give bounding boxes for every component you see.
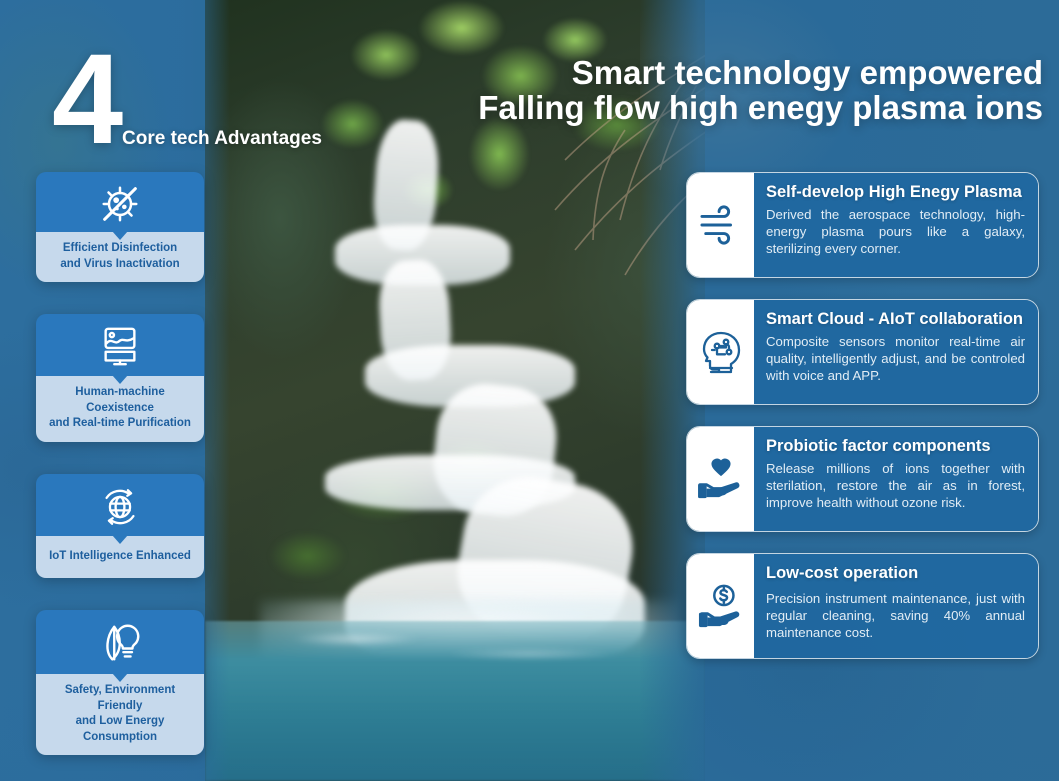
feature-icon-panel bbox=[687, 300, 754, 404]
ai-head-circuit-icon bbox=[698, 328, 744, 376]
advantage-icon-panel bbox=[36, 172, 204, 232]
feature-card-lowcost[interactable]: Low-cost operation Precision instrument … bbox=[686, 553, 1039, 659]
page-title: Smart technology empowered Falling flow … bbox=[478, 55, 1043, 126]
advantage-card-eco[interactable]: Safety, Environment Friendly and Low Ene… bbox=[36, 610, 204, 755]
feature-title: Low-cost operation bbox=[766, 563, 1025, 584]
feature-description: Precision instrument maintenance, just w… bbox=[766, 590, 1025, 642]
globe-refresh-icon bbox=[96, 484, 144, 530]
feature-icon-panel bbox=[687, 427, 754, 531]
advantage-card-iot[interactable]: IoT Intelligence Enhanced bbox=[36, 474, 204, 579]
hero-number: 4 bbox=[52, 36, 121, 164]
label-notch bbox=[112, 375, 128, 384]
feature-card-plasma[interactable]: Self-develop High Enegy Plasma Derived t… bbox=[686, 172, 1039, 278]
advantage-label-line-2: and Virus Inactivation bbox=[42, 257, 198, 273]
advantage-label-line-1: Human-machine Coexistence bbox=[42, 385, 198, 416]
advantage-label-line-1: IoT Intelligence Enhanced bbox=[42, 549, 198, 565]
advantage-label-line-2: and Low Energy Consumption bbox=[42, 714, 198, 745]
advantage-label: Safety, Environment Friendly and Low Ene… bbox=[36, 674, 204, 755]
features-column: Self-develop High Enegy Plasma Derived t… bbox=[686, 172, 1037, 680]
feature-description: Derived the aerospace technology, high-e… bbox=[766, 206, 1025, 258]
hand-dollar-icon bbox=[696, 583, 746, 629]
feature-icon-panel bbox=[687, 173, 754, 277]
advantage-label-line-1: Efficient Disinfection bbox=[42, 241, 198, 257]
advantage-icon-panel bbox=[36, 314, 204, 376]
advantage-label-line-2: and Real-time Purification bbox=[42, 416, 198, 432]
monitor-airflow-icon bbox=[98, 324, 142, 370]
headline-line-2: Falling flow high enegy plasma ions bbox=[478, 90, 1043, 125]
feature-card-aiot[interactable]: Smart Cloud - AIoT collaboration Composi… bbox=[686, 299, 1039, 405]
label-notch bbox=[112, 673, 128, 682]
virus-blocked-icon bbox=[97, 181, 143, 227]
feature-icon-panel bbox=[687, 554, 754, 658]
feature-title: Self-develop High Enegy Plasma bbox=[766, 182, 1025, 203]
advantage-label: IoT Intelligence Enhanced bbox=[36, 536, 204, 579]
label-notch bbox=[112, 231, 128, 240]
feature-body: Smart Cloud - AIoT collaboration Composi… bbox=[754, 300, 1038, 404]
advantage-label: Efficient Disinfection and Virus Inactiv… bbox=[36, 232, 204, 282]
advantage-card-coexistence[interactable]: Human-machine Coexistence and Real-time … bbox=[36, 314, 204, 442]
feature-card-probiotic[interactable]: Probiotic factor components Release mill… bbox=[686, 426, 1039, 532]
advantages-column: Efficient Disinfection and Virus Inactiv… bbox=[36, 172, 204, 781]
advantage-icon-panel bbox=[36, 474, 204, 536]
feature-title: Smart Cloud - AIoT collaboration bbox=[766, 309, 1025, 330]
feature-body: Self-develop High Enegy Plasma Derived t… bbox=[754, 173, 1038, 277]
feature-title: Probiotic factor components bbox=[766, 436, 1025, 457]
feature-body: Probiotic factor components Release mill… bbox=[754, 427, 1038, 531]
turquoise-pool bbox=[205, 621, 705, 781]
hand-heart-icon bbox=[696, 457, 746, 501]
advantage-label-line-1: Safety, Environment Friendly bbox=[42, 683, 198, 714]
hero-subtitle: Core tech Advantages bbox=[122, 128, 322, 150]
infographic-slide: 4 Core tech Advantages Smart technology … bbox=[0, 0, 1059, 781]
label-notch bbox=[112, 535, 128, 544]
advantage-card-disinfection[interactable]: Efficient Disinfection and Virus Inactiv… bbox=[36, 172, 204, 282]
wind-airflow-icon bbox=[698, 205, 744, 245]
feature-description: Composite sensors monitor real-time air … bbox=[766, 333, 1025, 385]
advantage-icon-panel bbox=[36, 610, 204, 674]
advantage-label: Human-machine Coexistence and Real-time … bbox=[36, 376, 204, 442]
headline-line-1: Smart technology empowered bbox=[478, 55, 1043, 90]
feature-description: Release millions of ions together with s… bbox=[766, 460, 1025, 512]
leaf-bulb-icon bbox=[96, 620, 144, 668]
feature-body: Low-cost operation Precision instrument … bbox=[754, 554, 1038, 658]
